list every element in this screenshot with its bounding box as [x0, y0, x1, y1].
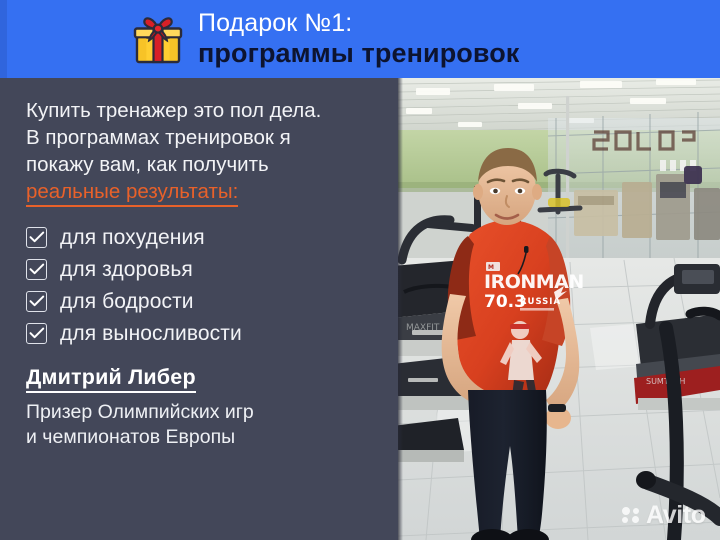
header-title-block: Подарок №1: программы тренировок — [198, 11, 519, 67]
list-item[interactable]: для похудения — [26, 227, 384, 248]
list-item[interactable]: для бодрости — [26, 291, 384, 312]
header-bar: Подарок №1: программы тренировок — [0, 0, 720, 78]
promo-banner: Подарок №1: программы тренировок — [0, 0, 720, 540]
gift-icon — [132, 14, 184, 66]
left-panel: Купить тренажер это пол дела. В программ… — [0, 78, 398, 540]
trainer-photo: MAXFIT SUMTECH — [398, 78, 720, 540]
list-item-label: для выносливости — [60, 323, 242, 344]
author-name: Дмитрий Либер — [26, 366, 196, 393]
list-item-label: для бодрости — [60, 291, 194, 312]
photo-edge-shadow — [398, 78, 403, 540]
benefits-checklist: для похудения для здоровья для бодрости — [26, 227, 384, 344]
author-credentials: Призер Олимпийских игр и чемпионатов Евр… — [26, 400, 384, 450]
header-left-edge-stripe — [0, 0, 7, 78]
header-title-line2: программы тренировок — [198, 40, 519, 67]
list-item-label: для здоровья — [60, 259, 193, 280]
lede-line-1: Купить тренажер это пол дела. — [26, 99, 321, 122]
svg-text:M: M — [488, 264, 494, 271]
svg-text:RUSSIA: RUSSIA — [520, 297, 561, 307]
author-credentials-line1: Призер Олимпийских игр — [26, 401, 254, 423]
author-credentials-line2: и чемпионатов Европы — [26, 426, 235, 448]
list-item[interactable]: для выносливости — [26, 323, 384, 344]
lede-line-3: покажу вам, как получить — [26, 153, 269, 176]
signature-block: Дмитрий Либер Призер Олимпийских игр и ч… — [26, 366, 384, 450]
header-title-line1: Подарок №1: — [198, 11, 519, 36]
lede-line-2: В программах тренировок я — [26, 126, 291, 149]
lede-paragraph: Купить тренажер это пол дела. В программ… — [26, 97, 384, 207]
checkbox-checked-icon[interactable] — [26, 259, 47, 280]
checkbox-checked-icon[interactable] — [26, 291, 47, 312]
list-item[interactable]: для здоровья — [26, 259, 384, 280]
list-item-label: для похудения — [60, 227, 205, 248]
header-content: Подарок №1: программы тренировок — [132, 0, 519, 78]
svg-text:IRONMAN: IRONMAN — [484, 271, 584, 293]
svg-text:MAXFIT: MAXFIT — [406, 323, 440, 333]
checkbox-checked-icon[interactable] — [26, 323, 47, 344]
checkbox-checked-icon[interactable] — [26, 227, 47, 248]
lede-accent-text: реальные результаты: — [26, 179, 238, 207]
